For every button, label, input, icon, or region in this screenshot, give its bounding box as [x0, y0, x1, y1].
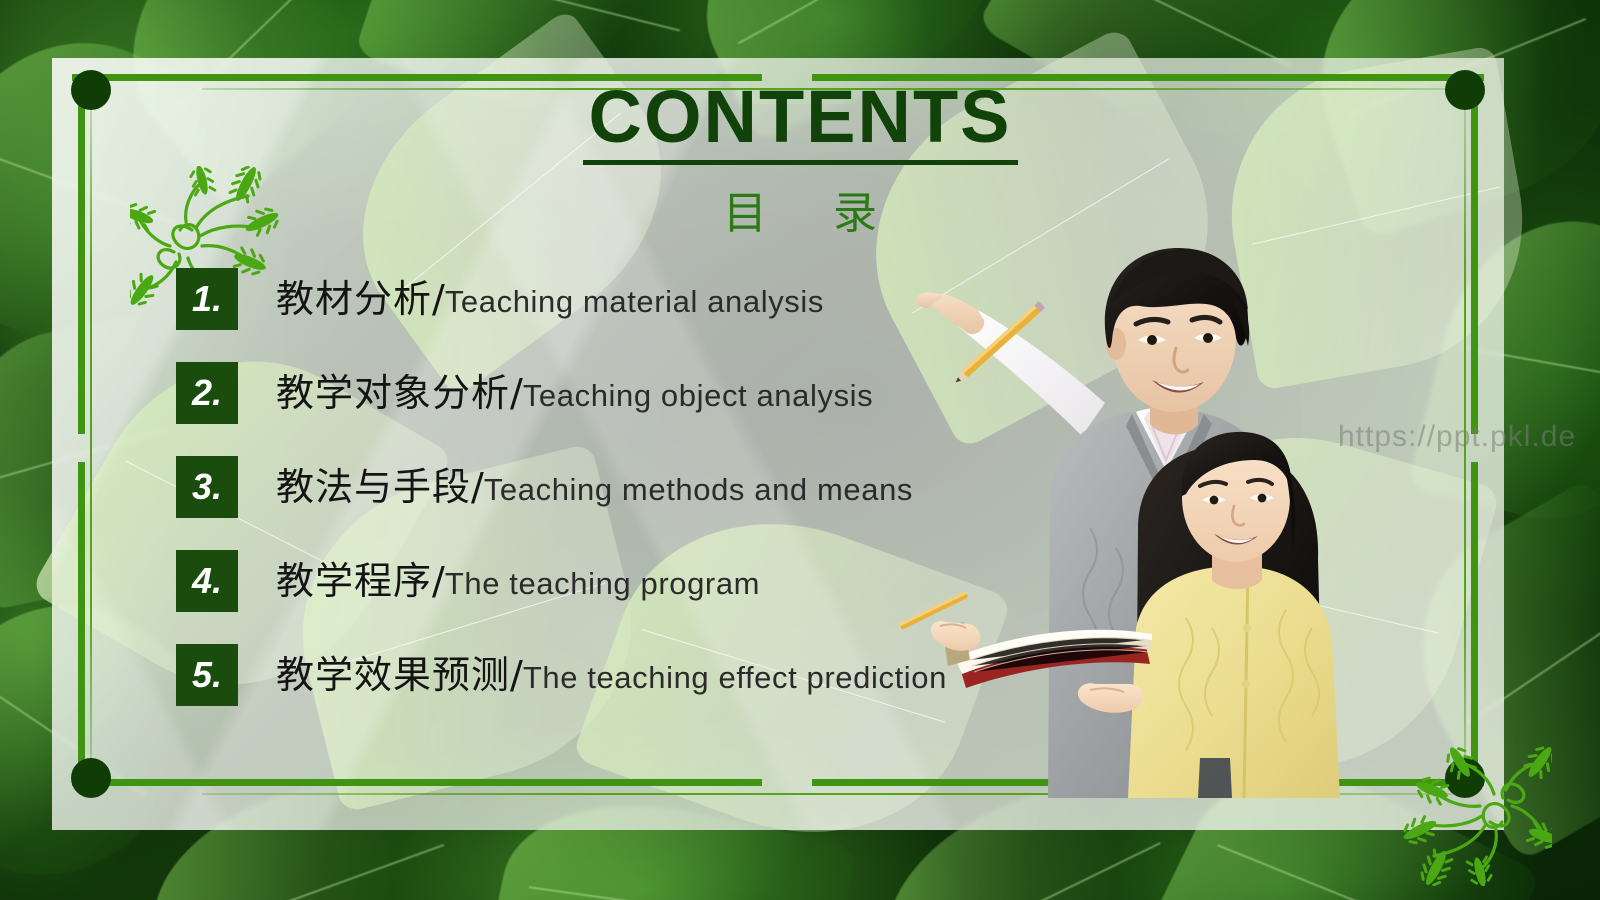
contents-number-badge-2: 2. — [176, 362, 238, 424]
contents-label-en-1: Teaching material analysis — [445, 284, 824, 319]
site-watermark: https://ppt.pkl.de — [1338, 420, 1576, 454]
frame-line-right-bottom — [1471, 462, 1478, 780]
contents-label-en-2: Teaching object analysis — [523, 378, 873, 413]
contents-separator-4: / — [432, 559, 445, 603]
page-title-english: CONTENTS — [583, 80, 1018, 165]
contents-label-cn-1: 教材分析 — [276, 277, 432, 321]
frame-line-left-bottom — [78, 462, 85, 780]
contents-label-en-3: Teaching methods and means — [484, 472, 913, 507]
contents-number-badge-5: 5. — [176, 644, 238, 706]
contents-separator-1: / — [432, 277, 445, 321]
teacher-and-student-photo — [900, 198, 1370, 798]
contents-item-3[interactable]: 3. 教法与手段/Teaching methods and means — [176, 456, 996, 518]
contents-item-2[interactable]: 2. 教学对象分析/Teaching object analysis — [176, 362, 996, 424]
frame-line-bottom-left — [72, 779, 762, 786]
contents-number-badge-1: 1. — [176, 268, 238, 330]
contents-label-cn-3: 教法与手段 — [276, 465, 471, 509]
contents-number-badge-4: 4. — [176, 550, 238, 612]
contents-label-cn-5: 教学效果预测 — [276, 653, 510, 697]
contents-label-1: 教材分析/Teaching material analysis — [276, 280, 824, 318]
contents-label-3: 教法与手段/Teaching methods and means — [276, 468, 913, 506]
contents-label-en-4: The teaching program — [445, 566, 760, 601]
contents-label-4: 教学程序/The teaching program — [276, 562, 760, 600]
contents-label-cn-2: 教学对象分析 — [276, 371, 510, 415]
contents-separator-5: / — [510, 653, 523, 697]
contents-label-5: 教学效果预测/The teaching effect prediction — [276, 656, 947, 694]
corner-dot-icon-bottom-left — [71, 758, 111, 798]
contents-separator-2: / — [510, 371, 523, 415]
contents-list: 1. 教材分析/Teaching material analysis 2. 教学… — [176, 268, 996, 738]
contents-number-badge-3: 3. — [176, 456, 238, 518]
contents-item-5[interactable]: 5. 教学效果预测/The teaching effect prediction — [176, 644, 996, 706]
contents-separator-3: / — [471, 465, 484, 509]
contents-label-en-5: The teaching effect prediction — [523, 660, 947, 695]
contents-label-2: 教学对象分析/Teaching object analysis — [276, 374, 873, 412]
contents-label-cn-4: 教学程序 — [276, 559, 432, 603]
contents-item-4[interactable]: 4. 教学程序/The teaching program — [176, 550, 996, 612]
floral-swirl-icon-bottom-right — [1402, 746, 1552, 886]
slide-root: CONTENTS 目 录 1. 教材分析/Teaching material a… — [0, 0, 1600, 900]
contents-item-1[interactable]: 1. 教材分析/Teaching material analysis — [176, 268, 996, 330]
